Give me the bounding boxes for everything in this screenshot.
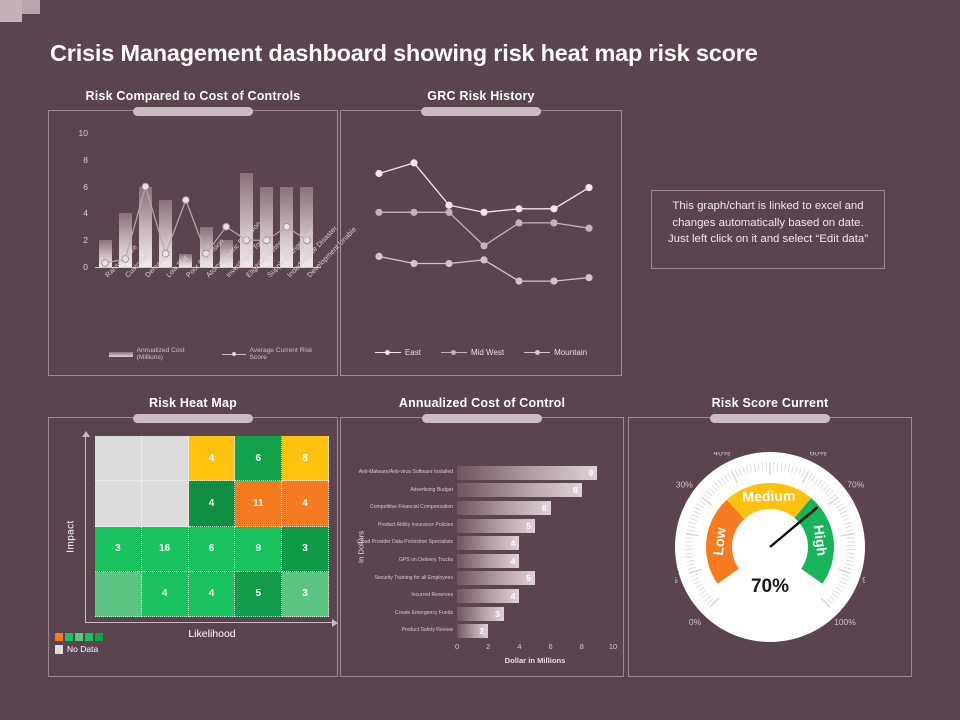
heat-map-x-axis-label: Likelihood [95,628,329,640]
hbar-rows: Anti-Malware/Anti-virus Software Install… [353,464,613,640]
heat-map-cell[interactable] [95,481,142,526]
grc-line-chart [341,119,621,329]
hbar-row: Security Training for all Employees5 [353,570,613,588]
hbar-x-tick: 10 [609,642,617,651]
panel-title-risk-vs-cost: Risk Compared to Cost of Controls [49,89,337,103]
hbar-row: Competitive Financial Compensation6 [353,499,613,517]
page-title: Crisis Management dashboard showing risk… [50,40,758,67]
grc-line-point [515,278,522,285]
hbar-row: Cloud Provider Data Protection Specialis… [353,534,613,552]
heat-map-cell[interactable]: 4 [189,436,236,481]
heat-map-cell[interactable]: 6 [235,436,282,481]
heat-map-cell[interactable]: 9 [235,527,282,572]
panel-accent-bar [133,414,253,423]
hbar-value-label: 4 [511,538,520,548]
heat-map-legend: No Data [55,633,103,654]
heat-map-legend-swatch [95,633,103,641]
legend-swatch [222,354,246,355]
hbar-x-tick: 4 [517,642,521,651]
heat-map-cell[interactable]: 4 [189,481,236,526]
no-data-label: No Data [67,644,98,654]
heat-map-x-axis [85,622,333,623]
hbar-row: Product Safety Review2 [353,622,613,640]
legend-label: Annualized Cost (Millions) [137,347,206,361]
heat-map-cell[interactable] [95,572,142,617]
hbar-category-label: Incurred Reserves [353,593,457,599]
hbar-row: GPS on Delivery Trucks4 [353,552,613,570]
heat-map-grid: 46841143166934453 [95,436,329,617]
hbar-category-label: Security Training for all Employees [353,576,457,582]
grc-line-point [585,225,592,232]
legend-swatch [375,352,401,353]
heat-map-legend-swatch [55,633,63,641]
combo-y-tick: 2 [83,235,88,245]
panel-accent-bar [421,107,541,116]
hbar-track: 4 [457,554,613,568]
hbar-chart-area: In Dollars Anti-Malware/Anti-virus Softw… [341,418,623,676]
grc-chart-legend: EastMid WestMountain [341,348,621,357]
combo-legend-item: Annualized Cost (Millions) [109,347,206,361]
combo-y-tick: 4 [83,208,88,218]
heat-map-y-axis [85,436,86,622]
grc-line-point [480,242,487,249]
hbar-bar: 4 [457,554,519,568]
hbar-category-label: Create Emergency Funds [353,611,457,617]
hbar-bar: 8 [457,483,582,497]
hbar-bar: 3 [457,607,504,621]
grc-legend-item: East [375,348,421,357]
heat-map-cell[interactable]: 11 [235,481,282,526]
grc-legend-item: Mid West [441,348,504,357]
panel-risk-heat-map: Risk Heat Map Impact 46841143166934453 L… [48,417,338,677]
gauge-area: LowMediumHigh0%10%20%30%40%50%60%70%80%9… [675,452,865,642]
heat-map-cell[interactable]: 4 [189,572,236,617]
grc-line-point [585,274,592,281]
hbar-bar: 4 [457,536,519,550]
heat-map-cell[interactable]: 3 [95,527,142,572]
hbar-value-label: 4 [511,591,520,601]
heat-map-legend-swatch [65,633,73,641]
no-data-swatch [55,645,63,654]
grc-line-point [480,209,487,216]
panel-title-risk-score-current: Risk Score Current [629,396,911,410]
grc-line-point [515,219,522,226]
header: Crisis Management dashboard showing risk… [0,18,960,58]
legend-label: Mountain [554,348,587,357]
heat-map-cell[interactable] [95,436,142,481]
hbar-x-tick: 8 [580,642,584,651]
legend-label: Average Current Risk Score [250,347,324,361]
hbar-category-label: Anti-Malware/Anti-virus Software Install… [353,470,457,476]
gauge-scale-label: 100% [834,617,856,627]
heat-map-cell[interactable]: 16 [142,527,189,572]
grc-line-point [585,184,592,191]
hbar-bar: 6 [457,501,551,515]
hbar-track: 2 [457,624,613,638]
panel-title-risk-heat-map: Risk Heat Map [49,396,337,410]
excel-link-note: This graph/chart is linked to excel and … [651,190,885,269]
hbar-value-label: 2 [479,626,488,636]
hbar-bar: 5 [457,571,535,585]
combo-legend-item: Average Current Risk Score [222,347,324,361]
grc-line-east [379,163,589,212]
hbar-x-tick: 6 [549,642,553,651]
grc-line-point [480,256,487,263]
heat-map-color-swatches [55,633,103,641]
panel-grc-risk-history: GRC Risk History EastMid WestMountain [340,110,622,376]
combo-y-tick: 8 [83,155,88,165]
grc-line-point [375,253,382,260]
panel-accent-bar [133,107,253,116]
combo-chart-legend: Annualized Cost (Millions)Average Curren… [109,347,324,361]
hbar-row: Product Ability Insurance Policies5 [353,517,613,535]
hbar-bar: 5 [457,519,535,533]
panel-accent-bar [710,414,830,423]
hbar-row: Create Emergency Funds3 [353,605,613,623]
hbar-value-label: 5 [526,521,535,531]
hbar-track: 4 [457,589,613,603]
hbar-x-axis-ticks: 0246810 [457,642,613,643]
hbar-track: 5 [457,571,613,585]
heat-map-cell[interactable]: 4 [142,572,189,617]
hbar-track: 8 [457,483,613,497]
hbar-value-label: 4 [511,556,520,566]
grc-legend-item: Mountain [524,348,587,357]
combo-y-tick: 6 [83,182,88,192]
hbar-row: Advertising Budget8 [353,482,613,500]
hbar-category-label: Product Safety Review [353,628,457,634]
hbar-value-label: 3 [495,609,504,619]
legend-swatch [109,352,133,357]
panel-title-annualized-cost: Annualized Cost of Control [341,396,623,410]
hbar-value-label: 5 [526,573,535,583]
grc-line-point [410,159,417,166]
hbar-track: 4 [457,536,613,550]
grc-line-point [375,170,382,177]
hbar-category-label: Cloud Provider Data Protection Specialis… [353,540,457,546]
hbar-x-tick: 2 [486,642,490,651]
heat-map-cell[interactable]: 3 [282,572,329,617]
legend-label: East [405,348,421,357]
hbar-row: Anti-Malware/Anti-virus Software Install… [353,464,613,482]
hbar-track: 5 [457,519,613,533]
gauge-scale-label: 60% [810,452,827,458]
panel-risk-score-current: Risk Score Current LowMediumHigh0%10%20%… [628,417,912,677]
gauge-scale-label: 70% [847,480,864,490]
panel-risk-vs-cost: Risk Compared to Cost of Controls 024681… [48,110,338,376]
hbar-row: Incurred Reserves4 [353,587,613,605]
grc-line-point [550,219,557,226]
hbar-bar: 4 [457,589,519,603]
legend-swatch [441,352,467,353]
gauge-band-label: Low [710,527,729,557]
hbar-category-label: GPS on Delivery Trucks [353,558,457,564]
heat-map-y-axis-label: Impact [66,520,77,552]
grc-line-point [410,260,417,267]
heat-map-area: Impact 46841143166934453 Likelihood [73,436,329,632]
hbar-track: 9 [457,466,613,480]
hbar-bar: 2 [457,624,488,638]
grc-line-point [445,209,452,216]
hbar-category-label: Product Ability Insurance Policies [353,523,457,529]
heat-map-no-data-legend: No Data [55,644,103,654]
heat-map-cell[interactable]: 8 [282,436,329,481]
heat-map-cell[interactable] [142,436,189,481]
legend-swatch [524,352,550,353]
grc-line-point [445,202,452,209]
decorative-square-accent [22,0,40,14]
grc-line-point [445,260,452,267]
hbar-category-label: Advertising Budget [353,488,457,494]
gauge-scale-label: 0% [689,617,702,627]
combo-y-tick: 0 [83,262,88,272]
heat-map-cell[interactable] [142,481,189,526]
combo-y-tick: 10 [79,128,88,138]
heat-map-legend-swatch [85,633,93,641]
hbar-x-axis-label: Dollar in Millions [457,656,613,665]
gauge-tick [847,542,855,543]
hbar-x-tick: 0 [455,642,459,651]
hbar-value-label: 8 [573,485,582,495]
panel-annualized-cost: Annualized Cost of Control In Dollars An… [340,417,624,677]
hbar-bar: 9 [457,466,597,480]
grc-line-point [550,205,557,212]
grc-line-point [410,209,417,216]
heat-map-cell[interactable]: 3 [282,527,329,572]
heat-map-cell[interactable]: 4 [282,481,329,526]
legend-label: Mid West [471,348,504,357]
hbar-track: 6 [457,501,613,515]
grc-line-point [515,205,522,212]
gauge-scale-label: 30% [676,480,693,490]
grc-line-point [550,278,557,285]
hbar-value-label: 9 [589,468,598,478]
gauge-value-label: 70% [675,576,865,598]
risk-score-gauge: LowMediumHigh0%10%20%30%40%50%60%70%80%9… [675,452,865,642]
heat-map-cell[interactable]: 5 [235,572,282,617]
gauge-scale-label: 40% [713,452,730,458]
hbar-category-label: Competitive Financial Compensation [353,505,457,511]
heat-map-legend-swatch [75,633,83,641]
grc-line-mid-west [379,212,589,246]
grc-line-point [375,209,382,216]
heat-map-cell[interactable]: 6 [189,527,236,572]
gauge-tick [685,542,693,543]
hbar-value-label: 6 [542,503,551,513]
gauge-band-label: Medium [742,487,795,504]
panel-title-grc-risk-history: GRC Risk History [341,89,621,103]
hbar-track: 3 [457,607,613,621]
